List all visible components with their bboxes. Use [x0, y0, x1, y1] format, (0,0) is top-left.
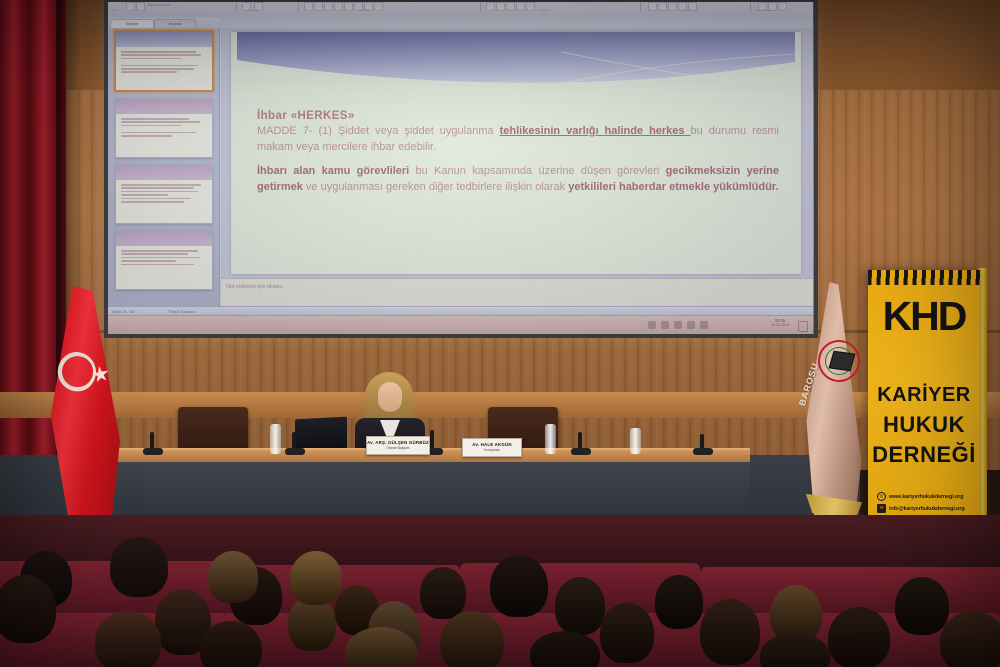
audience-head	[600, 603, 654, 663]
ribbon-group-label-slaytlar: Slaytlar	[248, 8, 258, 12]
audience-head	[828, 607, 890, 667]
audience-head	[490, 555, 548, 617]
wifi-icon[interactable]	[687, 321, 695, 329]
slide-thumbnail[interactable]: 16	[115, 164, 213, 224]
nameplate-subtitle: Konuşmacı	[484, 449, 500, 452]
audience-head	[110, 537, 168, 597]
slide-paragraph-2: İhbarı alan kamu görevlileri bu Kanun ka…	[257, 164, 779, 195]
audience-head	[655, 575, 703, 629]
slide-thumbnail[interactable]: 17	[115, 230, 213, 290]
slide-editing-area[interactable]: İhbar «HERKES» MADDE 7- (1) Şiddet veya …	[221, 28, 813, 278]
tab-anahat[interactable]: Anahat	[154, 19, 196, 28]
globe-icon: ◎	[877, 492, 886, 501]
microphone-base	[143, 448, 163, 455]
ribbon-group-label-yazitipi: Yazı Tipi	[358, 8, 369, 12]
audience-head	[440, 611, 504, 667]
slide-thumbnail[interactable]: 14	[114, 30, 214, 92]
audience-head	[290, 551, 342, 605]
banner-line-2: HUKUK	[868, 412, 980, 438]
microphone	[430, 430, 434, 450]
contact-row: ◎ www.kariyerhukukdernegi.org	[877, 492, 977, 501]
slide-counter: Slayt 14 / 40	[112, 309, 134, 314]
banner-line-3: DERNEĞİ	[868, 442, 980, 468]
p2-bold-1: İhbarı alan kamu görevlileri	[257, 165, 409, 177]
p1-lead: MADDE 7- (1) Şiddet veya şiddet uygulanm…	[257, 125, 500, 137]
water-bottle	[545, 424, 556, 454]
p2-bold-3: yetkilileri haberdar etmekle yükümlüdür.	[568, 181, 778, 193]
p2-mid-1: bu Kanun kapsamında üzerine düşen görevl…	[409, 165, 665, 177]
p1-underlined: tehlikesinin varlığı halinde herkes	[500, 125, 691, 137]
slide-thumbnail-panel[interactable]: 14 15 16	[108, 28, 220, 306]
ppt-ribbon[interactable]: Biçim Boyacısı Pano Slaytlar Yazı Tipi P…	[108, 0, 813, 13]
p2-mid-2: ve uygulanması gereken diğer tedbirlere …	[303, 181, 568, 193]
water-bottle	[630, 428, 641, 454]
notes-pane[interactable]: Not eklemek için tıklatın	[221, 278, 813, 307]
microphone-base	[571, 448, 591, 455]
windows-taskbar[interactable]: 15:25 26.03.2018	[108, 315, 813, 335]
chevron-up-icon[interactable]	[661, 321, 669, 329]
ribbon-group-label-paragraf: Paragraf	[538, 8, 550, 12]
nameplate: Av. ARŞ. GÜLŞEN GÜRBÜZ Oturum Başkanı	[366, 436, 430, 455]
taskbar-clock[interactable]: 15:25 26.03.2018	[771, 319, 789, 328]
conference-hall-photo: Biçim Boyacısı Pano Slaytlar Yazı Tipi P…	[0, 0, 1000, 667]
slide-thumbnail[interactable]: 15	[115, 98, 213, 158]
slide-paragraph-1: MADDE 7- (1) Şiddet veya şiddet uygulanm…	[257, 124, 779, 155]
audience-head	[208, 551, 258, 603]
audience-head	[95, 611, 161, 667]
banner-top-stripe	[868, 270, 980, 285]
speaker-face	[378, 382, 402, 412]
slide-text-body: İhbar «HERKES» MADDE 7- (1) Şiddet veya …	[257, 110, 779, 204]
tab-slaytlar[interactable]: Slaytlar	[110, 19, 154, 28]
khd-logo: KHD	[868, 296, 980, 337]
water-bottle	[270, 424, 281, 454]
projection-screen: Biçim Boyacısı Pano Slaytlar Yazı Tipi P…	[108, 0, 813, 334]
email-text: info@kariyerhukukdernegi.org	[889, 506, 965, 512]
slide-header-graphic	[231, 32, 801, 104]
audience-head	[700, 599, 760, 665]
mail-icon: ✉	[877, 504, 886, 513]
ribbon-group-pano-item[interactable]: Biçim Boyacısı	[148, 3, 170, 7]
current-slide[interactable]: İhbar «HERKES» MADDE 7- (1) Şiddet veya …	[231, 32, 801, 274]
ribbon-group-label-duzenleme: Düzenleme	[756, 8, 771, 12]
show-desktop-button[interactable]	[798, 321, 808, 332]
theme-name: "Ölçüt" Konusu	[168, 309, 195, 314]
audience-area	[0, 515, 1000, 667]
microphone-base	[693, 448, 713, 455]
notes-placeholder: Not eklemek için tıklatın	[226, 284, 283, 290]
ribbon-group-label-pano: Pano	[112, 8, 119, 12]
nameplate: Av. HALE AKGÜN Konuşmacı	[462, 438, 522, 457]
empty-chair	[178, 407, 248, 451]
audience-head	[940, 611, 1000, 667]
network-icon[interactable]	[648, 321, 656, 329]
contact-row: ✉ info@kariyerhukukdernegi.org	[877, 504, 977, 513]
audience-head	[420, 567, 466, 619]
slide-outline-tabbar[interactable]: Slaytlar Anahat	[108, 18, 220, 28]
ribbon-group-label-cizim: Çizim	[684, 8, 692, 12]
clock-date: 26.03.2018	[771, 324, 789, 328]
website-text: www.kariyerhukukdernegi.org	[889, 494, 963, 500]
slide-heading: İhbar «HERKES»	[257, 110, 779, 122]
battery-icon[interactable]	[700, 321, 708, 329]
microphone-base	[285, 448, 305, 455]
volume-icon[interactable]	[674, 321, 682, 329]
nameplate-name: Av. ARŞ. GÜLŞEN GÜRBÜZ	[367, 441, 429, 445]
banner-line-1: KARİYER	[868, 384, 980, 407]
audience-head	[555, 577, 605, 635]
audience-head	[0, 575, 56, 643]
nameplate-name: Av. HALE AKGÜN	[472, 443, 511, 447]
nameplate-subtitle: Oturum Başkanı	[386, 447, 409, 450]
audience-head	[895, 577, 949, 635]
